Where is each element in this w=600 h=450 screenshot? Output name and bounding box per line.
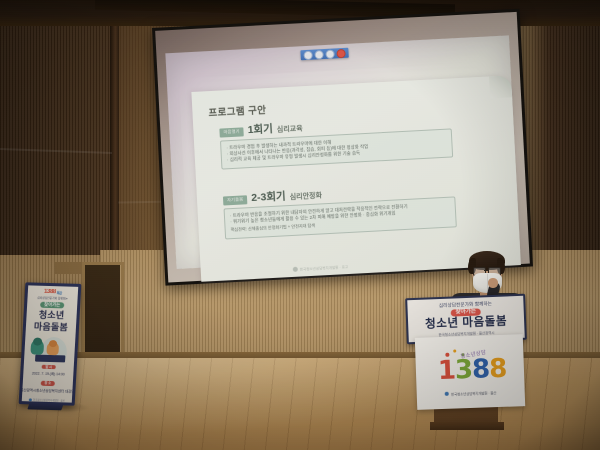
projected-image: 프로그램 구안 마음열기 1회기 심리교육 · 트라우마 경험 후 발생하는 내… bbox=[165, 35, 520, 269]
door-frame bbox=[82, 262, 124, 365]
podium: 심리상담전문가와 함께하는 찾아가는 청소년 마음돌봄 한국청소년상담복지개발원… bbox=[404, 296, 528, 428]
section-2-number: 2-3회기 bbox=[251, 191, 286, 203]
circle-icon[interactable] bbox=[325, 49, 334, 58]
banner-title-line1: 청소년 bbox=[39, 310, 65, 321]
slide-title: 프로그램 구안 bbox=[208, 102, 267, 119]
banner-logo: 1388 특강 bbox=[44, 289, 62, 296]
podium-logo-caption: 한국청소년상담복지개발원 · 울산 bbox=[451, 390, 497, 397]
record-icon[interactable] bbox=[336, 48, 345, 57]
banner-tag: 찾아가는 bbox=[40, 302, 65, 309]
section-2-badge: 자기돌봄 bbox=[223, 196, 248, 205]
section-1-number: 1회기 bbox=[247, 124, 273, 136]
glasses-bridge bbox=[484, 270, 488, 271]
banner-place-label: 장 소 bbox=[40, 381, 55, 386]
podium-logo-caption-row: 한국청소년상담복지개발원 · 울산 bbox=[445, 390, 497, 397]
desk-shape bbox=[35, 355, 65, 363]
section-1-subtitle: 심리교육 bbox=[277, 125, 303, 134]
slide-footer: 한국청소년상담복지개발원 · 로고 bbox=[293, 264, 349, 272]
banner-title-line2: 마음돌봄 bbox=[34, 322, 68, 333]
standing-banner: 1388 특강 심리상담전문가와 함께하는 찾아가는 청소년 마음돌봄 일 시 … bbox=[19, 282, 82, 405]
banner-date-value: 2022. 7. 19.(화) 14:00 bbox=[32, 371, 65, 377]
banner-illustration bbox=[29, 336, 70, 361]
slide-section-1: 마음열기 1회기 심리교육 · 트라우마 경험 후 발생하는 내과적 트라우마에… bbox=[219, 114, 453, 169]
organization-logo-icon bbox=[293, 267, 298, 272]
slide-footer-text: 한국청소년상담복지개발원 · 로고 bbox=[300, 264, 349, 272]
logo-digit: 8 bbox=[489, 353, 507, 384]
podium-sign-title: 청소년 마음돌봄 bbox=[425, 316, 507, 332]
logo-digit: 3 bbox=[454, 354, 472, 385]
logo-digit: 8 bbox=[472, 354, 490, 385]
projection-screen: 프로그램 구안 마음열기 1회기 심리교육 · 트라우마 경험 후 발생하는 내… bbox=[152, 9, 533, 286]
slide-toolbar[interactable] bbox=[300, 48, 348, 60]
logo-digit: 1 bbox=[437, 355, 455, 386]
logo-digits: 1388 bbox=[437, 355, 506, 383]
logo-1388: 청소년상담 1388 bbox=[433, 347, 506, 389]
banner-face: 1388 특강 심리상담전문가와 함께하는 찾아가는 청소년 마음돌봄 일 시 … bbox=[22, 285, 78, 402]
banner-stand-leg bbox=[27, 402, 63, 410]
section-1-badge: 마음열기 bbox=[219, 128, 244, 137]
slide-section-2: 자기돌봄 2-3회기 심리안정화 · 트라우마 반응을 조절하기 위한 내담자의… bbox=[223, 182, 457, 239]
organization-logo-icon bbox=[29, 398, 32, 401]
circle-icon[interactable] bbox=[314, 50, 323, 59]
podium-sign-pretext: 심리상담전문가와 함께하는 bbox=[439, 301, 492, 309]
section-2-subtitle: 심리안정화 bbox=[290, 192, 323, 201]
organization-logo-icon bbox=[445, 392, 449, 396]
podium-foot bbox=[430, 422, 504, 430]
banner-place-value: 울산광역시청소년상담복지센터 대강당 bbox=[22, 387, 75, 394]
speaker-hand bbox=[488, 278, 498, 288]
banner-logo-sub: 특강 bbox=[57, 290, 62, 295]
banner-logo-text: 1388 bbox=[44, 289, 56, 295]
slide-content-card: 프로그램 구안 마음열기 1회기 심리교육 · 트라우마 경험 후 발생하는 내… bbox=[191, 75, 521, 281]
podium-logo-panel: 청소년상담 1388 한국청소년상담복지개발원 · 울산 bbox=[415, 334, 525, 410]
banner-date-label: 일 시 bbox=[41, 364, 56, 369]
photo-scene: 프로그램 구안 마음열기 1회기 심리교육 · 트라우마 경험 후 발생하는 내… bbox=[0, 0, 600, 450]
dot-icon bbox=[453, 349, 456, 352]
circle-icon[interactable] bbox=[303, 50, 312, 59]
banner-pretext: 심리상담전문가와 함께하는 bbox=[37, 296, 68, 301]
